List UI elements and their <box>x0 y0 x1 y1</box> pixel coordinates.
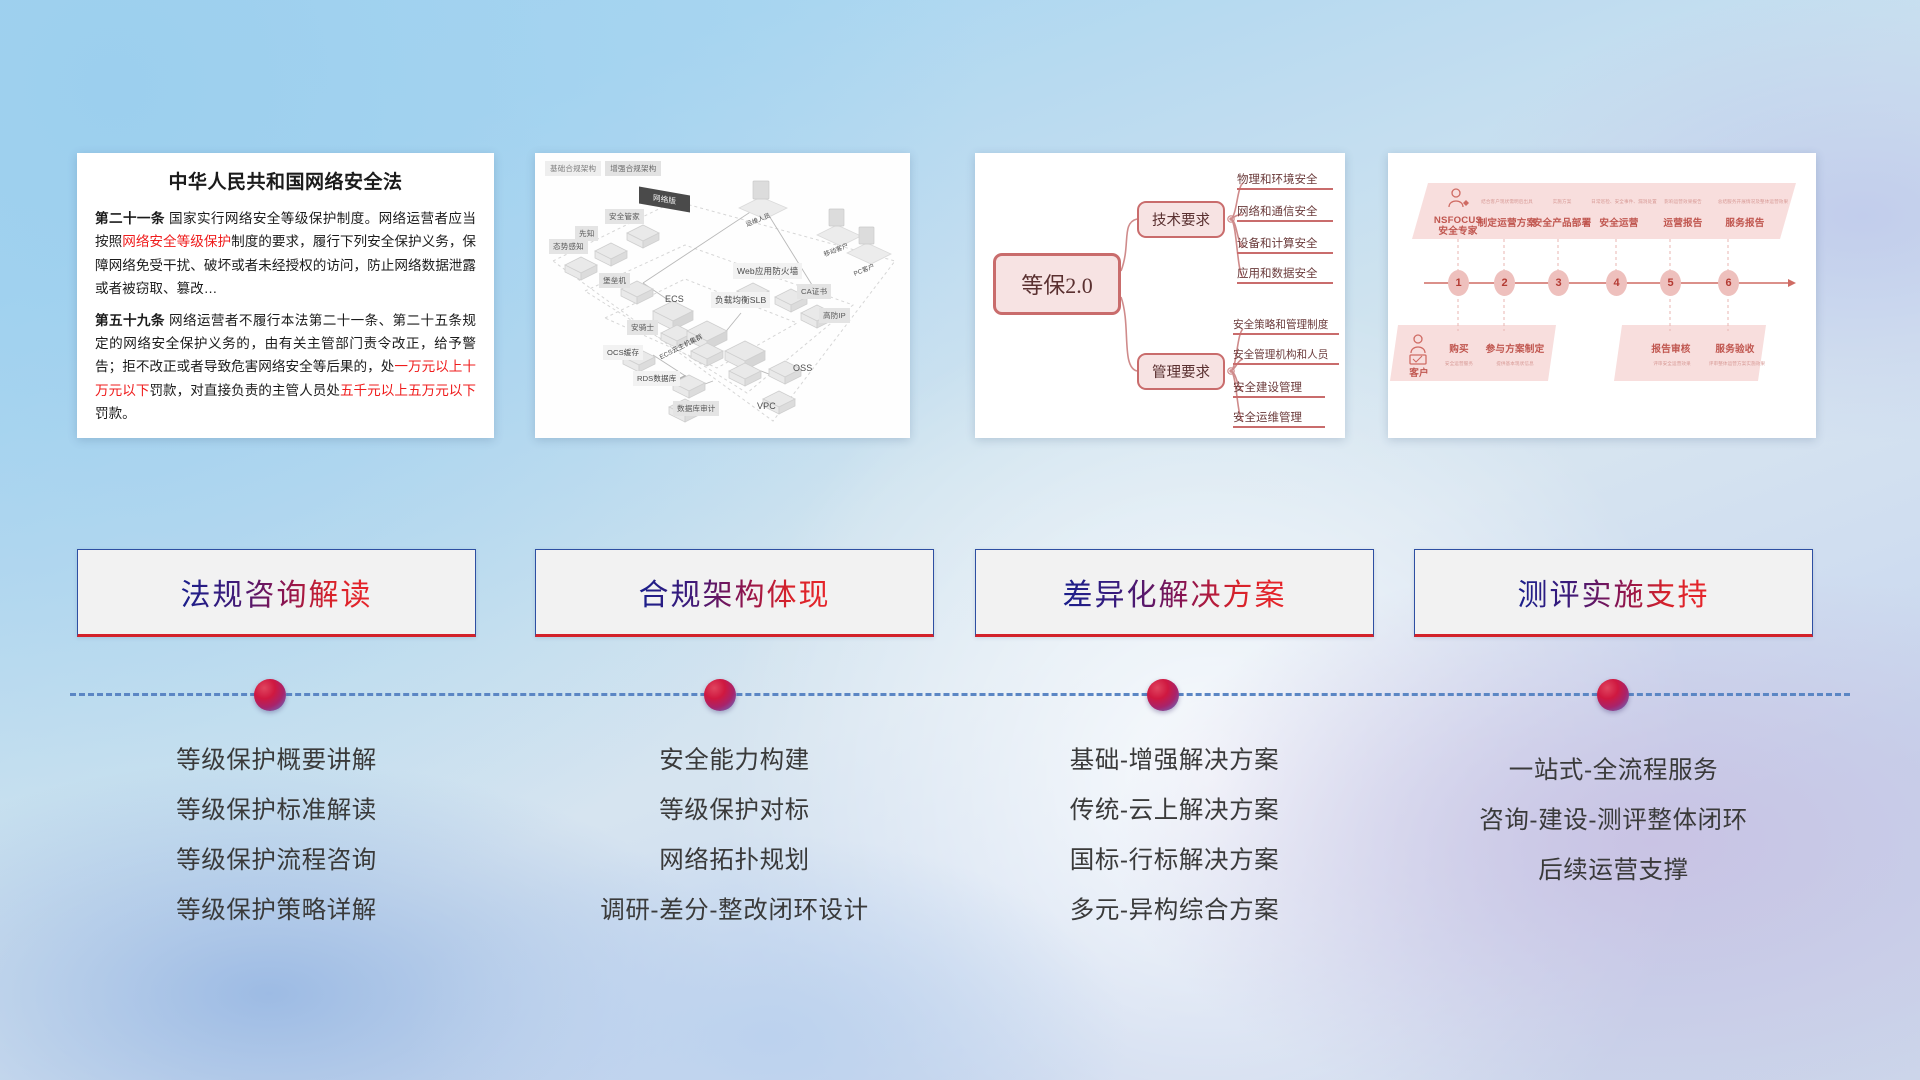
flow-bottom-label-4: 服务验收 <box>1704 341 1766 355</box>
section-title-row: 法规咨询解读 合规架构体现 差异化解决方案 测评实施支持 <box>0 549 1920 637</box>
mindmap-root-node: 等保2.0 <box>993 253 1121 315</box>
flow-bottom-sub-1: 安全运营服务 <box>1434 361 1484 367</box>
section-title-text-2: 合规架构体现 <box>639 570 831 614</box>
architecture-node-5: ECS <box>661 292 688 306</box>
mindmap-leaf-t2: 网络和通信安全 <box>1237 203 1333 222</box>
mindmap-leaf-m2: 安全管理机构和人员 <box>1233 347 1339 365</box>
preview-card-row: 中华人民共和国网络安全法 第二十一条 国家实行网络安全等级保护制度。网络运营者应… <box>0 153 1920 443</box>
mindmap-leaf-t1: 物理和环境安全 <box>1237 171 1333 190</box>
timeline-dot-1[interactable] <box>254 679 286 711</box>
mindmap-leaf-m1: 安全策略和管理制度 <box>1233 317 1339 335</box>
list-item: 传统-云上解决方案 <box>975 786 1374 836</box>
flow-bottom-sub-2: 提供基本现状信息 <box>1480 361 1550 367</box>
mindmap-branch-technical: 技术要求 <box>1137 201 1225 238</box>
flow-top-label-5: 服务报告 <box>1714 215 1776 229</box>
law-body: 中华人民共和国网络安全法 第二十一条 国家实行网络安全等级保护制度。网络运营者应… <box>77 153 494 438</box>
section-title-box-4[interactable]: 测评实施支持 <box>1414 549 1813 637</box>
architecture-node-1: 安全管家 <box>605 209 644 224</box>
detail-list-1: 等级保护概要讲解 等级保护标准解读 等级保护流程咨询 等级保护策略详解 <box>77 736 476 936</box>
flow-bottom-label-3: 报告审核 <box>1638 341 1704 355</box>
section-title-text-3: 差异化解决方案 <box>1063 570 1287 614</box>
list-item: 咨询-建设-测评整体闭环 <box>1414 796 1813 846</box>
section-detail-lists: 等级保护概要讲解 等级保护标准解读 等级保护流程咨询 等级保护策略详解 安全能力… <box>0 736 1920 966</box>
list-item: 等级保护标准解读 <box>77 786 476 836</box>
mindmap-leaf-m4: 安全运维管理 <box>1233 409 1325 428</box>
list-item: 一站式-全流程服务 <box>1414 746 1813 796</box>
list-item: 等级保护概要讲解 <box>77 736 476 786</box>
list-item: 基础-增强解决方案 <box>975 736 1374 786</box>
architecture-node-15: OSS <box>789 361 816 375</box>
card-cloud-architecture[interactable]: 基础合规架构 增强合规架构 <box>535 153 910 438</box>
flow-step-number-4: 4 <box>1606 270 1627 296</box>
architecture-node-7: OCS缓存 <box>603 345 643 360</box>
list-item: 网络拓扑规划 <box>535 836 934 886</box>
section-title-text-1: 法规咨询解读 <box>181 570 373 614</box>
mindmap-leaf-t3: 设备和计算安全 <box>1237 235 1333 254</box>
flow-top-label-4: 运营报告 <box>1652 215 1714 229</box>
flow-bottom-sub-4: 评审整体运营方案实施效果 <box>1698 361 1776 367</box>
law-seg-2-2: 罚款，对直接负责的主管人员处 <box>149 383 340 398</box>
flow-bottom-label-2: 参与方案制定 <box>1478 341 1552 355</box>
law-seg-2-3: 五千元以上五万元以下 <box>340 383 476 398</box>
slide-stage: 中华人民共和国网络安全法 第二十一条 国家实行网络安全等级保护制度。网络运营者应… <box>0 0 1920 1080</box>
architecture-node-12: Web应用防火墙 <box>733 263 802 279</box>
mindmap-leaf-m3: 安全建设管理 <box>1233 379 1325 398</box>
flow-top-label-3: 安全运营 <box>1588 215 1650 229</box>
section-title-text-4: 测评实施支持 <box>1518 570 1710 614</box>
list-item: 等级保护流程咨询 <box>77 836 476 886</box>
list-item: 后续运营支撑 <box>1414 846 1813 896</box>
list-item: 国标-行标解决方案 <box>975 836 1374 886</box>
detail-list-4: 一站式-全流程服务 咨询-建设-测评整体闭环 后续运营支撑 <box>1414 746 1813 896</box>
architecture-node-3: 态势感知 <box>549 239 588 254</box>
law-seg-2-4: 罚款。 <box>95 406 136 421</box>
law-paragraph-1: 第二十一条 国家实行网络安全等级保护制度。网络运营者应当按照网络安全等级保护制度… <box>95 207 476 301</box>
card-service-flow[interactable]: NSFOCUS 安全专家 结合客户现状需明后出具 制定运营方案 实施方案 安全产… <box>1388 153 1816 438</box>
list-item: 多元-异构综合方案 <box>975 886 1374 936</box>
service-flow-diagram: NSFOCUS 安全专家 结合客户现状需明后出具 制定运营方案 实施方案 安全产… <box>1388 153 1816 438</box>
mindmap-leaf-t4: 应用和数据安全 <box>1237 265 1333 284</box>
service-flow-canvas <box>1388 153 1816 438</box>
architecture-node-9: 数据库审计 <box>673 401 719 416</box>
flow-top-sub-2: 实施方案 <box>1534 199 1590 205</box>
mindmap-diagram: 等保2.0 技术要求 管理要求 物理和环境安全 网络和通信安全 设备和计算安全 … <box>975 153 1345 438</box>
detail-list-2: 安全能力构建 等级保护对标 网络拓扑规划 调研-差分-整改闭环设计 <box>535 736 934 936</box>
timeline-dot-3[interactable] <box>1147 679 1179 711</box>
flow-step-number-5: 5 <box>1660 270 1681 296</box>
list-item: 调研-差分-整改闭环设计 <box>535 886 934 936</box>
section-title-box-2[interactable]: 合规架构体现 <box>535 549 934 637</box>
list-item: 等级保护策略详解 <box>77 886 476 936</box>
flow-bottom-label-1: 购买 <box>1436 341 1482 355</box>
law-paragraph-2: 第五十九条 网络运营者不履行本法第二十一条、第二十五条规定的网络安全保护义务的，… <box>95 309 476 426</box>
law-seg-1-1: 网络安全等级保护 <box>122 234 231 249</box>
timeline <box>0 660 1920 720</box>
timeline-dashed-line <box>70 693 1850 696</box>
architecture-node-6: 安骑士 <box>627 320 658 335</box>
card-law-text[interactable]: 中华人民共和国网络安全法 第二十一条 国家实行网络安全等级保护制度。网络运营者应… <box>77 153 494 438</box>
flow-top-sub-5: 总结服务开展情况及整体运营效果 <box>1708 199 1798 205</box>
timeline-dot-4[interactable] <box>1597 679 1629 711</box>
architecture-node-16: VPC <box>753 399 780 413</box>
card-mindmap[interactable]: 等保2.0 技术要求 管理要求 物理和环境安全 网络和通信安全 设备和计算安全 … <box>975 153 1345 438</box>
architecture-diagram: 基础合规架构 增强合规架构 <box>535 153 910 438</box>
law-article-label-1: 第二十一条 <box>95 211 165 226</box>
law-title: 中华人民共和国网络安全法 <box>95 167 476 194</box>
list-item: 安全能力构建 <box>535 736 934 786</box>
law-article-label-2: 第五十九条 <box>95 313 165 328</box>
detail-list-3: 基础-增强解决方案 传统-云上解决方案 国标-行标解决方案 多元-异构综合方案 <box>975 736 1374 936</box>
architecture-node-14: 高防IP <box>819 308 850 323</box>
list-item: 等级保护对标 <box>535 786 934 836</box>
timeline-dot-2[interactable] <box>704 679 736 711</box>
flow-step-number-2: 2 <box>1494 270 1515 296</box>
flow-top-sub-1: 结合客户现状需明后出具 <box>1472 199 1542 205</box>
flow-step-number-3: 3 <box>1548 270 1569 296</box>
section-title-box-1[interactable]: 法规咨询解读 <box>77 549 476 637</box>
mindmap-branch-management: 管理要求 <box>1137 353 1225 390</box>
flow-step-number-1: 1 <box>1448 270 1469 296</box>
flow-actor-bottom: 客户 <box>1402 365 1436 379</box>
section-title-box-3[interactable]: 差异化解决方案 <box>975 549 1374 637</box>
architecture-node-13: CA证书 <box>797 284 831 299</box>
architecture-node-8: RDS数据库 <box>633 371 680 386</box>
architecture-node-11: 负载均衡SLB <box>711 292 770 308</box>
flow-step-number-6: 6 <box>1718 270 1739 296</box>
architecture-node-4: 堡垒机 <box>599 273 630 288</box>
